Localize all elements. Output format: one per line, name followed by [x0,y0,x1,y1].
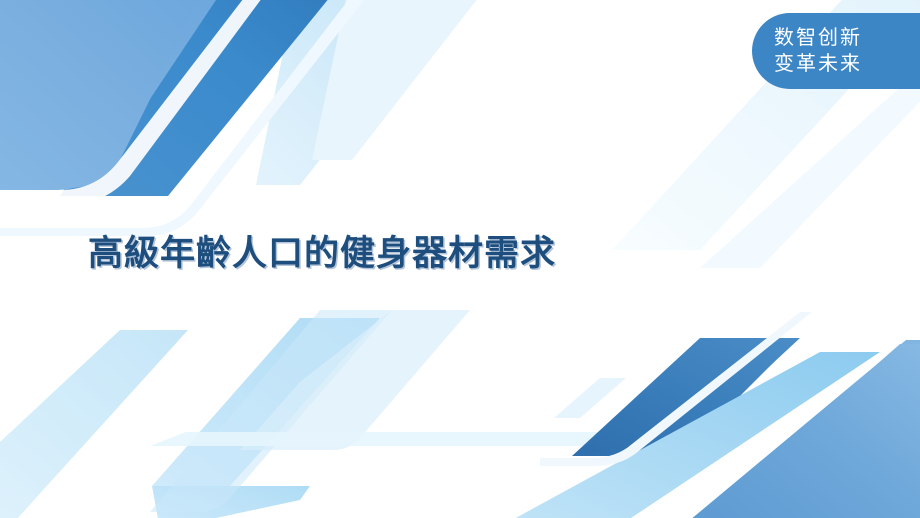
brand-badge: 数智创新 变革未来 [752,13,920,89]
page-title: 高級年齡人口的健身器材需求 [88,232,556,276]
slide-canvas: 数智创新 变革未来 高級年齡人口的健身器材需求 [0,0,920,518]
brand-badge-line-2: 变革未来 [774,51,862,77]
bottom-center-strip [150,432,640,446]
bottom-right-pale-notch [554,378,626,418]
brand-badge-line-1: 数智创新 [774,25,862,51]
